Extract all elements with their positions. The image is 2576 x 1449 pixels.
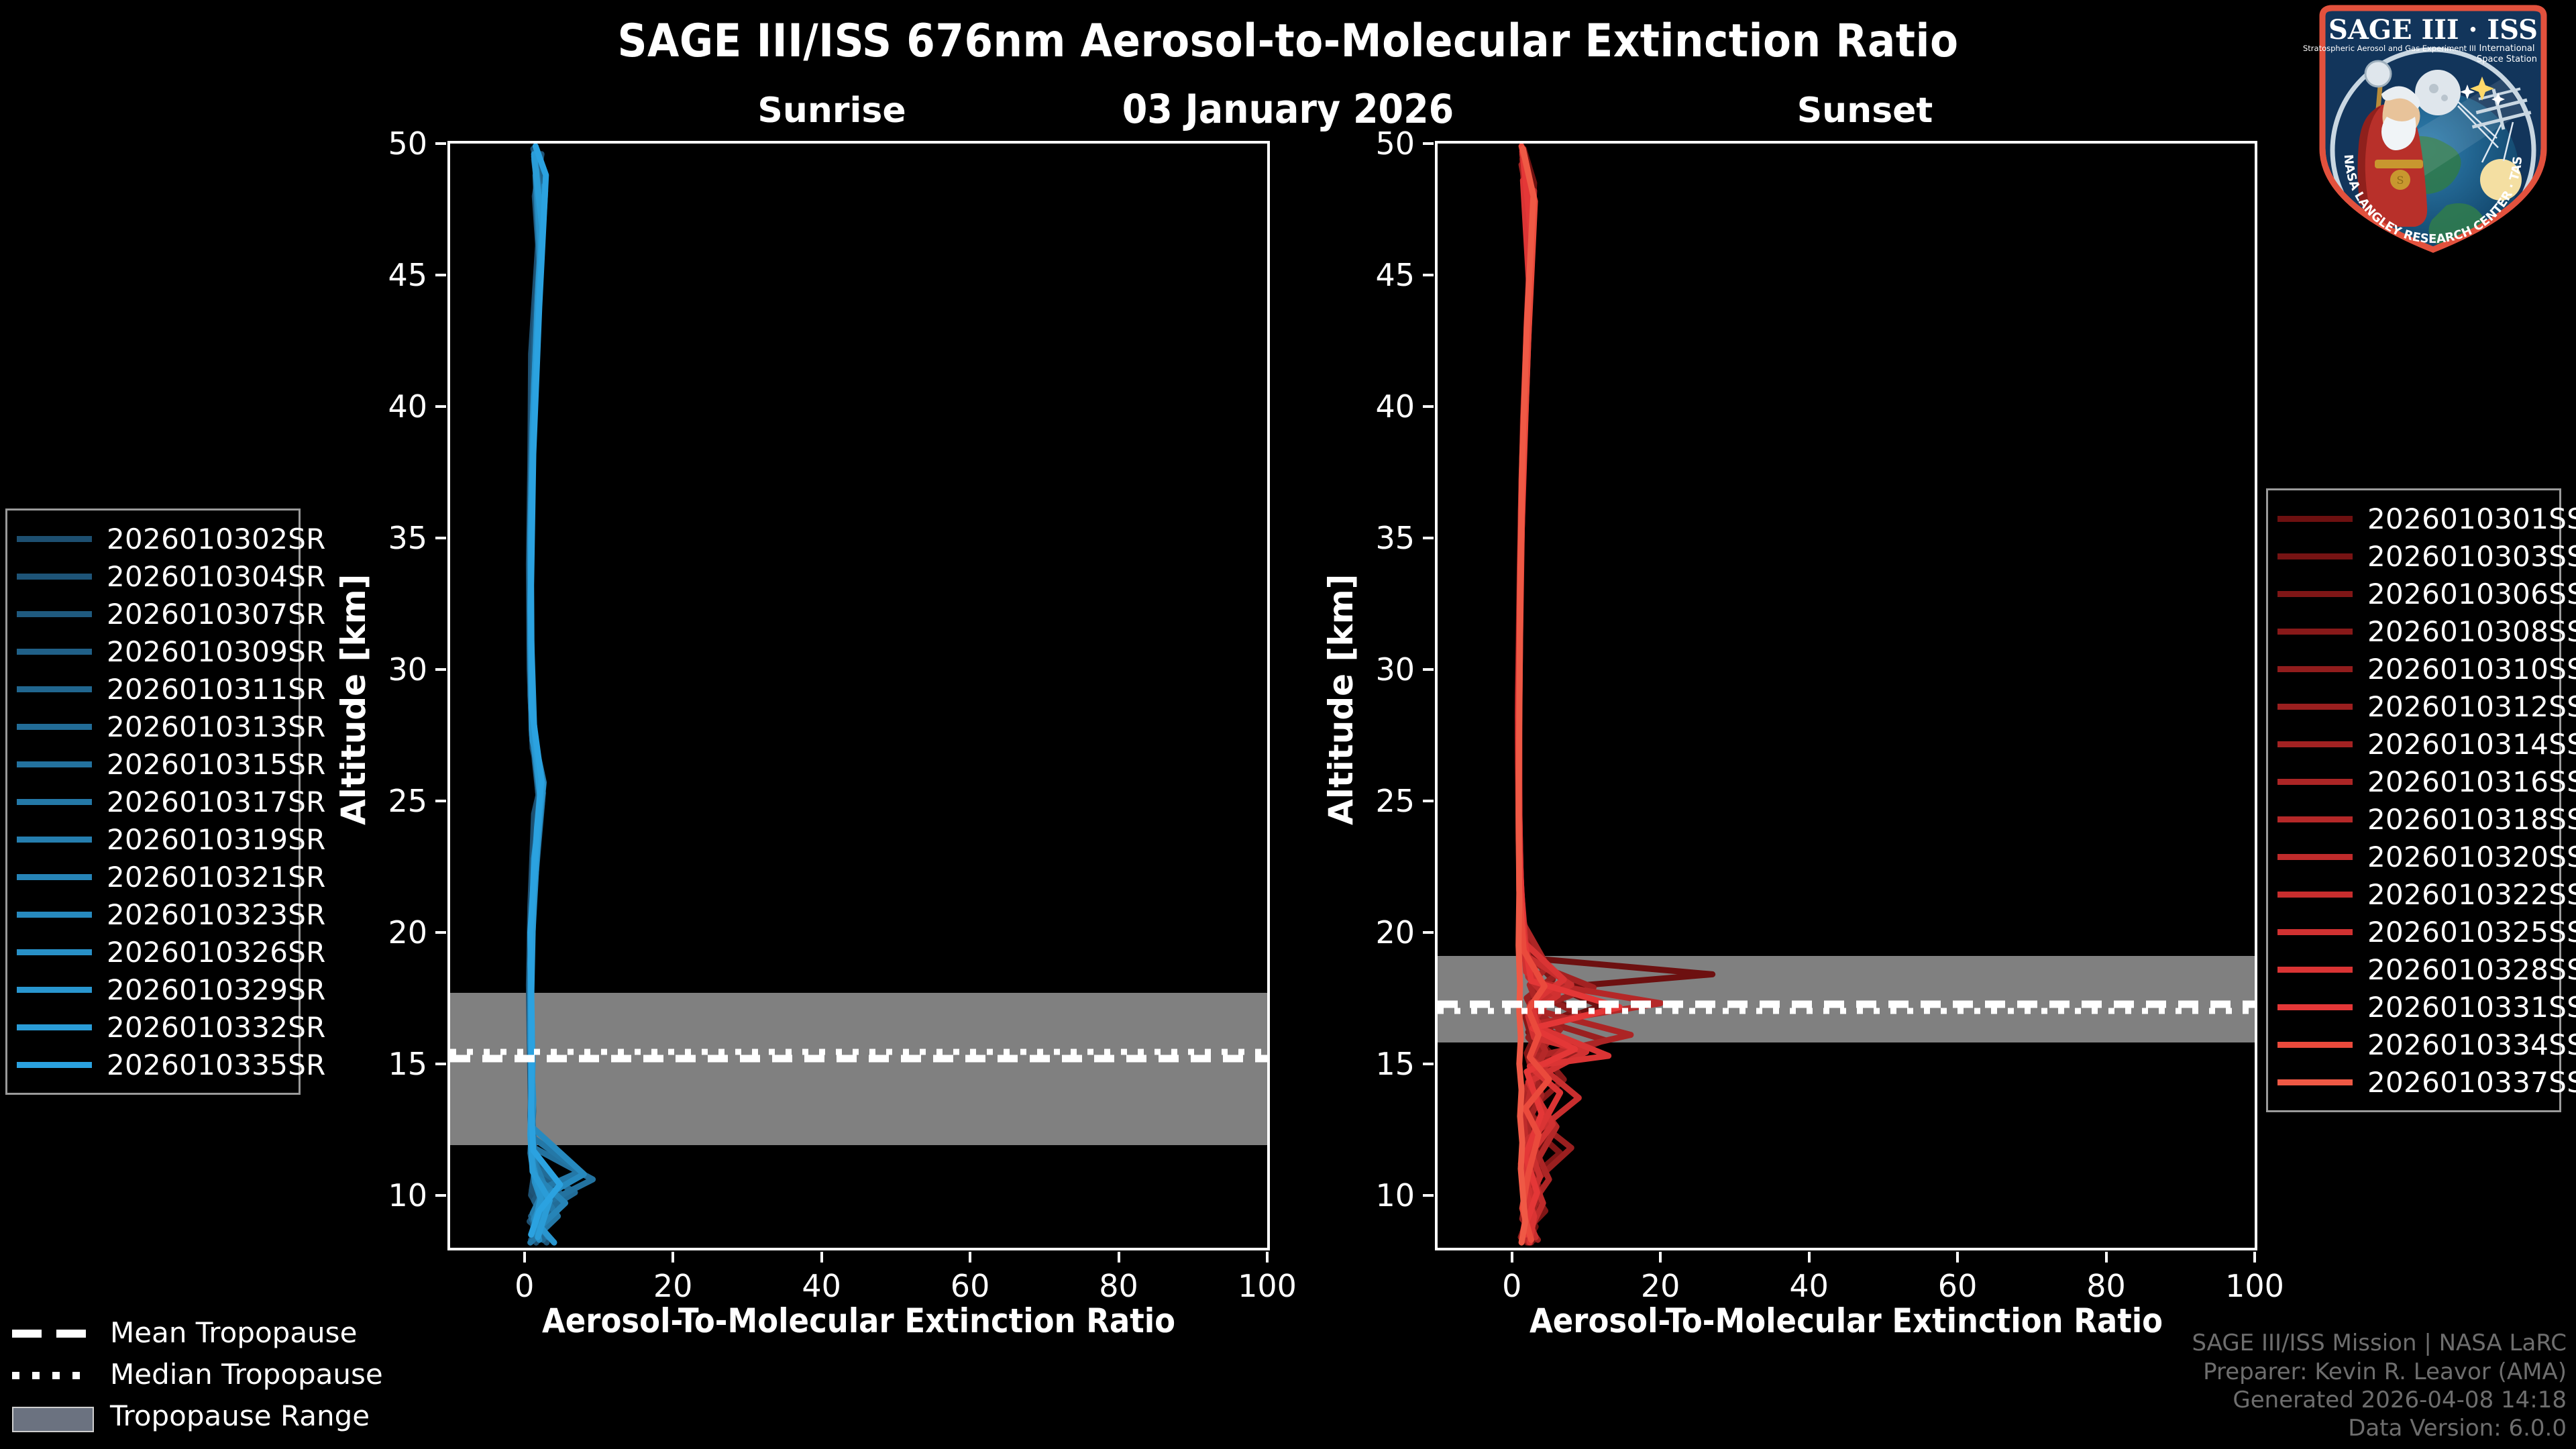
sunset-legend-label: 2026010331SS xyxy=(2367,991,2576,1024)
legend-color-swatch xyxy=(17,799,92,805)
sunset-series-group xyxy=(1438,144,2255,1248)
x-axis-tick-label: 0 xyxy=(1502,1268,1521,1304)
sunrise-legend-label: 2026010309SR xyxy=(107,635,326,668)
sunrise-legend-label: 2026010315SR xyxy=(107,748,326,781)
logo-subtitle-right-2: Space Station xyxy=(2477,54,2537,64)
legend-color-swatch xyxy=(2277,854,2353,860)
sunrise-legend-item[interactable]: 2026010329SR xyxy=(17,971,286,1008)
y-axis-tick-mark xyxy=(435,668,446,671)
sunrise-x-axis-title: Aerosol-To-Molecular Extinction Ratio xyxy=(447,1301,1270,1340)
legend-color-swatch xyxy=(2277,779,2353,785)
sunrise-legend-label: 2026010319SR xyxy=(107,823,326,856)
sunrise-legend-item[interactable]: 2026010321SR xyxy=(17,858,286,896)
sunset-legend-label: 2026010334SS xyxy=(2367,1028,2576,1061)
y-axis-tick-mark xyxy=(1423,1194,1434,1197)
sunset-legend-item[interactable]: 2026010318SS xyxy=(2277,800,2547,838)
sage-iii-iss-patch-icon: S SAGE III · ISS Stratospheric Aerosol a… xyxy=(2302,4,2564,254)
sunset-plot-canvas xyxy=(1438,144,2255,1248)
y-axis-tick-label: 45 xyxy=(1348,257,1415,293)
x-axis-tick-mark xyxy=(820,1252,823,1263)
legend-color-swatch xyxy=(17,574,92,580)
legend-color-swatch xyxy=(2277,516,2353,522)
legend-color-swatch xyxy=(17,649,92,655)
x-axis-tick-label: 20 xyxy=(1641,1268,1680,1304)
sunrise-series-group xyxy=(450,144,1267,1248)
sunset-legend-item[interactable]: 2026010314SS xyxy=(2277,725,2547,763)
x-axis-tick-label: 100 xyxy=(2225,1268,2284,1304)
sunrise-legend-label: 2026010329SR xyxy=(107,973,326,1006)
legend-color-swatch xyxy=(2277,1042,2353,1048)
legend-color-swatch xyxy=(2277,629,2353,635)
legend-color-swatch xyxy=(17,987,92,993)
sunset-y-axis-title: Altitude [km] xyxy=(1322,574,1360,825)
panel-title-sunset: Sunset xyxy=(1677,91,2053,131)
x-axis-tick-mark xyxy=(2253,1252,2256,1263)
legend-item-tropopause-range: Tropopause Range xyxy=(12,1395,383,1436)
y-axis-tick-mark xyxy=(1423,274,1434,276)
legend-color-swatch xyxy=(2277,1004,2353,1010)
sunset-legend-label: 2026010320SS xyxy=(2367,841,2576,873)
sunset-legend-item[interactable]: 2026010334SS xyxy=(2277,1026,2547,1063)
legend-item-median-tropopause: Median Tropopause xyxy=(12,1353,383,1395)
x-axis-tick-mark xyxy=(2105,1252,2108,1263)
y-axis-tick-mark xyxy=(435,931,446,934)
sunrise-legend-item[interactable]: 2026010317SR xyxy=(17,783,286,820)
sunset-legend-item[interactable]: 2026010308SS xyxy=(2277,612,2547,650)
sunrise-legend-label: 2026010304SR xyxy=(107,560,326,593)
sunrise-legend-item[interactable]: 2026010311SR xyxy=(17,670,286,708)
mean-tropopause-line xyxy=(450,1055,1267,1062)
y-axis-tick-label: 50 xyxy=(1348,125,1415,162)
legend-color-swatch xyxy=(17,837,92,843)
sunset-legend-label: 2026010303SS xyxy=(2367,540,2576,573)
tropopause-legend: Mean Tropopause Median Tropopause Tropop… xyxy=(12,1311,383,1436)
y-axis-tick-label: 15 xyxy=(360,1046,427,1082)
x-axis-tick-label: 60 xyxy=(1938,1268,1978,1304)
sunset-legend-item[interactable]: 2026010320SS xyxy=(2277,838,2547,875)
legend-label-mean-tropopause: Mean Tropopause xyxy=(110,1316,357,1349)
legend-label-median-tropopause: Median Tropopause xyxy=(110,1358,383,1391)
sunrise-legend-label: 2026010326SR xyxy=(107,936,326,969)
legend-color-swatch xyxy=(17,761,92,767)
sunrise-legend-item[interactable]: 2026010332SR xyxy=(17,1008,286,1046)
y-axis-tick-mark xyxy=(1423,668,1434,671)
sunrise-legend-item[interactable]: 2026010335SR xyxy=(17,1046,286,1083)
legend-color-swatch xyxy=(17,912,92,918)
sunrise-legend-item[interactable]: 2026010313SR xyxy=(17,708,286,745)
y-axis-tick-label: 40 xyxy=(360,388,427,425)
y-axis-tick-mark xyxy=(435,1063,446,1065)
legend-color-swatch xyxy=(2277,704,2353,710)
legend-color-swatch xyxy=(2277,929,2353,935)
sunset-legend-label: 2026010312SS xyxy=(2367,690,2576,723)
sunrise-plot-area xyxy=(447,141,1270,1250)
sunrise-legend-item[interactable]: 2026010315SR xyxy=(17,745,286,783)
y-axis-tick-mark xyxy=(1423,931,1434,934)
y-axis-tick-mark xyxy=(435,405,446,408)
sunset-legend-label: 2026010337SS xyxy=(2367,1066,2576,1099)
sunset-legend-item[interactable]: 2026010325SS xyxy=(2277,913,2547,951)
page-title: SAGE III/ISS 676nm Aerosol-to-Molecular … xyxy=(0,15,2576,68)
sunrise-legend-item[interactable]: 2026010302SR xyxy=(17,520,286,557)
sunrise-legend-item[interactable]: 2026010319SR xyxy=(17,820,286,858)
legend-color-swatch xyxy=(2277,816,2353,822)
sunset-x-axis-title: Aerosol-To-Molecular Extinction Ratio xyxy=(1435,1301,2257,1340)
credit-line-version: Data Version: 6.0.0 xyxy=(2192,1414,2567,1442)
x-axis-tick-label: 0 xyxy=(515,1268,534,1304)
sunset-legend-label: 2026010322SS xyxy=(2367,878,2576,911)
sunrise-legend-item[interactable]: 2026010323SR xyxy=(17,896,286,933)
mean-tropopause-line xyxy=(1438,1001,2255,1008)
sunset-legend-label: 2026010310SS xyxy=(2367,653,2576,686)
sunrise-legend-item[interactable]: 2026010309SR xyxy=(17,633,286,670)
y-axis-tick-mark xyxy=(435,800,446,802)
gray-box-icon xyxy=(12,1407,93,1424)
sunrise-legend-label: 2026010332SR xyxy=(107,1011,326,1044)
legend-label-tropopause-range: Tropopause Range xyxy=(110,1399,370,1432)
logo-subtitle-left: Stratospheric Aerosol and Gas Experiment… xyxy=(2303,44,2476,53)
sunset-legend-item[interactable]: 2026010337SS xyxy=(2277,1063,2547,1101)
legend-color-swatch xyxy=(17,686,92,692)
x-axis-tick-mark xyxy=(1659,1252,1662,1263)
dashed-line-icon xyxy=(12,1324,93,1341)
legend-color-swatch xyxy=(17,724,92,730)
x-axis-tick-label: 60 xyxy=(951,1268,990,1304)
legend-color-swatch xyxy=(17,611,92,617)
sunrise-legend-label: 2026010335SR xyxy=(107,1049,326,1081)
sunset-legend-label: 2026010308SS xyxy=(2367,615,2576,648)
x-axis-tick-label: 40 xyxy=(1789,1268,1829,1304)
sunset-legend-item[interactable]: 2026010301SS xyxy=(2277,500,2547,537)
sunrise-event-legend[interactable]: 2026010302SR2026010304SR2026010307SR2026… xyxy=(5,508,301,1095)
y-axis-tick-label: 15 xyxy=(1348,1046,1415,1082)
sunset-legend-item[interactable]: 2026010328SS xyxy=(2277,951,2547,988)
y-axis-tick-label: 45 xyxy=(360,257,427,293)
sunset-legend-label: 2026010325SS xyxy=(2367,916,2576,949)
sunrise-legend-label: 2026010302SR xyxy=(107,523,326,555)
x-axis-tick-label: 80 xyxy=(1099,1268,1138,1304)
sunset-event-legend[interactable]: 2026010301SS2026010303SS2026010306SS2026… xyxy=(2266,488,2561,1112)
sunrise-legend-label: 2026010307SR xyxy=(107,598,326,631)
y-axis-tick-mark xyxy=(1423,405,1434,408)
x-axis-tick-mark xyxy=(672,1252,674,1263)
sunset-legend-item[interactable]: 2026010312SS xyxy=(2277,688,2547,725)
sunset-legend-item[interactable]: 2026010322SS xyxy=(2277,875,2547,913)
legend-color-swatch xyxy=(2277,892,2353,898)
x-axis-tick-mark xyxy=(1266,1252,1269,1263)
x-axis-tick-mark xyxy=(1511,1252,1513,1263)
credit-line-generated: Generated 2026-04-08 14:18 xyxy=(2192,1386,2567,1414)
x-axis-tick-label: 20 xyxy=(653,1268,693,1304)
median-tropopause-line xyxy=(1438,1008,2255,1014)
sunset-legend-item[interactable]: 2026010303SS xyxy=(2277,537,2547,575)
y-axis-tick-mark xyxy=(435,537,446,539)
y-axis-tick-label: 10 xyxy=(360,1177,427,1214)
legend-color-swatch xyxy=(2277,1079,2353,1085)
credit-line-mission: SAGE III/ISS Mission | NASA LaRC xyxy=(2192,1329,2567,1357)
x-axis-tick-mark xyxy=(969,1252,971,1263)
x-axis-tick-mark xyxy=(1956,1252,1959,1263)
sunset-legend-item[interactable]: 2026010310SS xyxy=(2277,650,2547,688)
sunrise-legend-label: 2026010311SR xyxy=(107,673,326,706)
y-axis-tick-label: 35 xyxy=(360,520,427,556)
y-axis-tick-label: 20 xyxy=(360,914,427,951)
sunrise-legend-item[interactable]: 2026010326SR xyxy=(17,933,286,971)
x-axis-tick-label: 100 xyxy=(1238,1268,1297,1304)
sunrise-legend-item[interactable]: 2026010307SR xyxy=(17,595,286,633)
legend-color-swatch xyxy=(17,874,92,880)
sunset-legend-item[interactable]: 2026010316SS xyxy=(2277,763,2547,800)
legend-color-swatch xyxy=(17,949,92,955)
y-axis-tick-mark xyxy=(1423,1063,1434,1065)
legend-color-swatch xyxy=(2277,967,2353,973)
sunrise-legend-label: 2026010323SR xyxy=(107,898,326,931)
sunset-legend-label: 2026010301SS xyxy=(2367,502,2576,535)
svg-text:S: S xyxy=(2397,174,2404,186)
sunrise-y-axis-title: Altitude [km] xyxy=(334,574,373,825)
sunset-legend-label: 2026010316SS xyxy=(2367,765,2576,798)
y-axis-tick-label: 10 xyxy=(1348,1177,1415,1214)
y-axis-tick-mark xyxy=(435,1194,446,1197)
panel-title-sunrise: Sunrise xyxy=(644,91,1020,131)
sage-iii-iss-logo: S SAGE III · ISS Stratospheric Aerosol a… xyxy=(2302,4,2564,254)
y-axis-tick-label: 20 xyxy=(1348,914,1415,951)
sunset-legend-label: 2026010314SS xyxy=(2367,728,2576,761)
sunset-legend-label: 2026010306SS xyxy=(2367,578,2576,610)
sunset-legend-label: 2026010318SS xyxy=(2367,803,2576,836)
legend-color-swatch xyxy=(2277,591,2353,597)
y-axis-tick-label: 40 xyxy=(1348,388,1415,425)
y-axis-tick-mark xyxy=(1423,537,1434,539)
x-axis-tick-label: 40 xyxy=(802,1268,841,1304)
credits-block: SAGE III/ISS Mission | NASA LaRC Prepare… xyxy=(2192,1329,2567,1442)
logo-subtitle-right-1: International xyxy=(2479,44,2535,54)
legend-color-swatch xyxy=(17,536,92,542)
y-axis-tick-mark xyxy=(1423,142,1434,145)
legend-color-swatch xyxy=(2277,553,2353,559)
sunset-plot-area xyxy=(1435,141,2257,1250)
y-axis-tick-label: 50 xyxy=(360,125,427,162)
legend-color-swatch xyxy=(17,1024,92,1030)
credit-line-preparer: Preparer: Kevin R. Leavor (AMA) xyxy=(2192,1358,2567,1386)
y-axis-tick-mark xyxy=(1423,800,1434,802)
legend-color-swatch xyxy=(2277,666,2353,672)
sunrise-legend-label: 2026010313SR xyxy=(107,710,326,743)
x-axis-tick-mark xyxy=(523,1252,526,1263)
sunrise-plot-canvas xyxy=(450,144,1267,1248)
y-axis-tick-label: 35 xyxy=(1348,520,1415,556)
x-axis-tick-mark xyxy=(1808,1252,1811,1263)
y-axis-tick-mark xyxy=(435,142,446,145)
sunrise-legend-label: 2026010321SR xyxy=(107,861,326,894)
sunset-legend-label: 2026010328SS xyxy=(2367,953,2576,986)
logo-title-text: SAGE III · ISS xyxy=(2328,14,2538,46)
median-tropopause-line xyxy=(450,1049,1267,1055)
dotted-line-icon xyxy=(12,1365,93,1383)
sunrise-legend-label: 2026010317SR xyxy=(107,786,326,818)
legend-item-mean-tropopause: Mean Tropopause xyxy=(12,1311,383,1353)
y-axis-tick-mark xyxy=(435,274,446,276)
sunset-legend-item[interactable]: 2026010331SS xyxy=(2277,988,2547,1026)
x-axis-tick-label: 80 xyxy=(2086,1268,2126,1304)
sunset-legend-item[interactable]: 2026010306SS xyxy=(2277,575,2547,612)
legend-color-swatch xyxy=(2277,741,2353,747)
legend-color-swatch xyxy=(17,1062,92,1068)
x-axis-tick-mark xyxy=(1118,1252,1120,1263)
sunrise-legend-item[interactable]: 2026010304SR xyxy=(17,557,286,595)
